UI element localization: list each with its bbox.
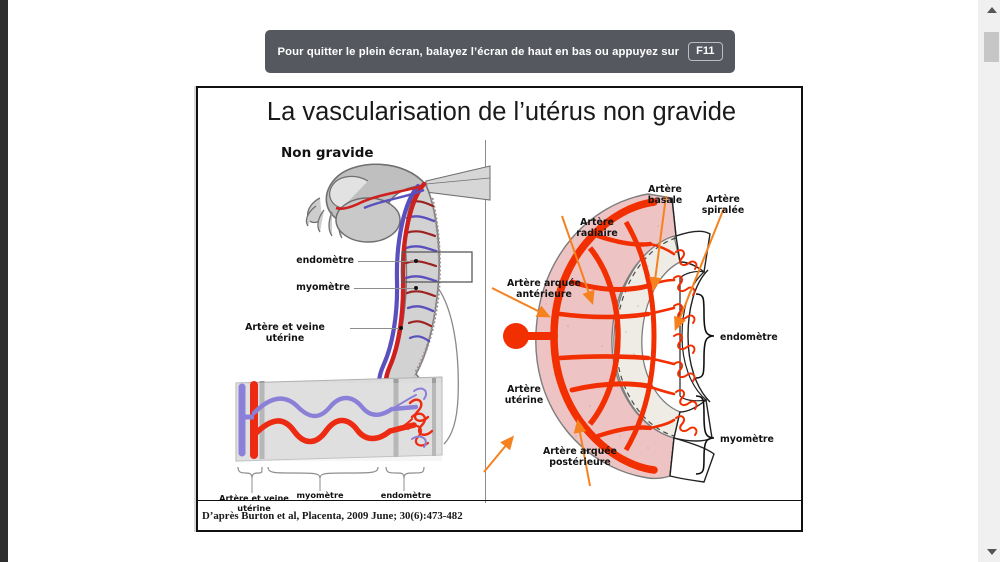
label-artere-arquee-posterieure: Artère arquée postérieure xyxy=(520,446,640,469)
leader-myometre xyxy=(354,288,414,289)
fullscreen-hint-text: Pour quitter le plein écran, balayez l’é… xyxy=(277,46,679,58)
label-endometre-right: endomètre xyxy=(720,332,778,343)
label-artere-radiaire: Artère radiaire xyxy=(562,217,632,240)
label-inset-endometre: endomètre xyxy=(372,490,440,500)
page-title: La vascularisation de l’utérus non gravi… xyxy=(198,98,805,127)
scroll-thumb[interactable] xyxy=(984,32,999,62)
label-inset-myometre: myomètre xyxy=(288,490,352,500)
right-side-braces xyxy=(690,288,730,478)
chevron-down-icon xyxy=(987,549,997,555)
leader-artere-veine-dot xyxy=(399,326,403,330)
leader-myometre-dot xyxy=(414,286,418,290)
f11-key-badge: F11 xyxy=(688,42,722,61)
screen: Pour quitter le plein écran, balayez l’é… xyxy=(0,0,1000,562)
slide[interactable]: La vascularisation de l’utérus non gravi… xyxy=(196,86,803,532)
label-artere-uterine: Artère utérine xyxy=(486,384,562,407)
label-endometre-left: endomètre xyxy=(238,255,354,266)
window-left-edge xyxy=(0,0,8,562)
citation-text: D’après Burton et al, Placenta, 2009 Jun… xyxy=(202,510,463,522)
label-artere-spiralee: Artère spiralée xyxy=(690,194,756,217)
scroll-down-arrow[interactable] xyxy=(984,544,1000,560)
scroll-up-arrow[interactable] xyxy=(984,2,1000,18)
label-artere-basale: Artère basale xyxy=(632,184,698,207)
citation-rule xyxy=(198,500,801,501)
label-artere-veine-uterine-left: Artère et veine utérine xyxy=(222,322,348,345)
leader-artere-veine xyxy=(350,328,400,329)
leader-endometre xyxy=(358,261,414,262)
label-myometre-left: myomètre xyxy=(238,282,350,293)
fullscreen-hint-toast: Pour quitter le plein écran, balayez l’é… xyxy=(265,30,735,73)
leader-endometre-dot xyxy=(414,259,418,263)
chevron-up-icon xyxy=(987,7,997,13)
vessel-coiling-inset xyxy=(220,373,465,503)
vertical-scrollbar[interactable] xyxy=(978,0,1000,562)
label-myometre-right: myomètre xyxy=(720,434,774,445)
label-artere-arquee-anterieure: Artère arquée antérieure xyxy=(490,278,598,301)
